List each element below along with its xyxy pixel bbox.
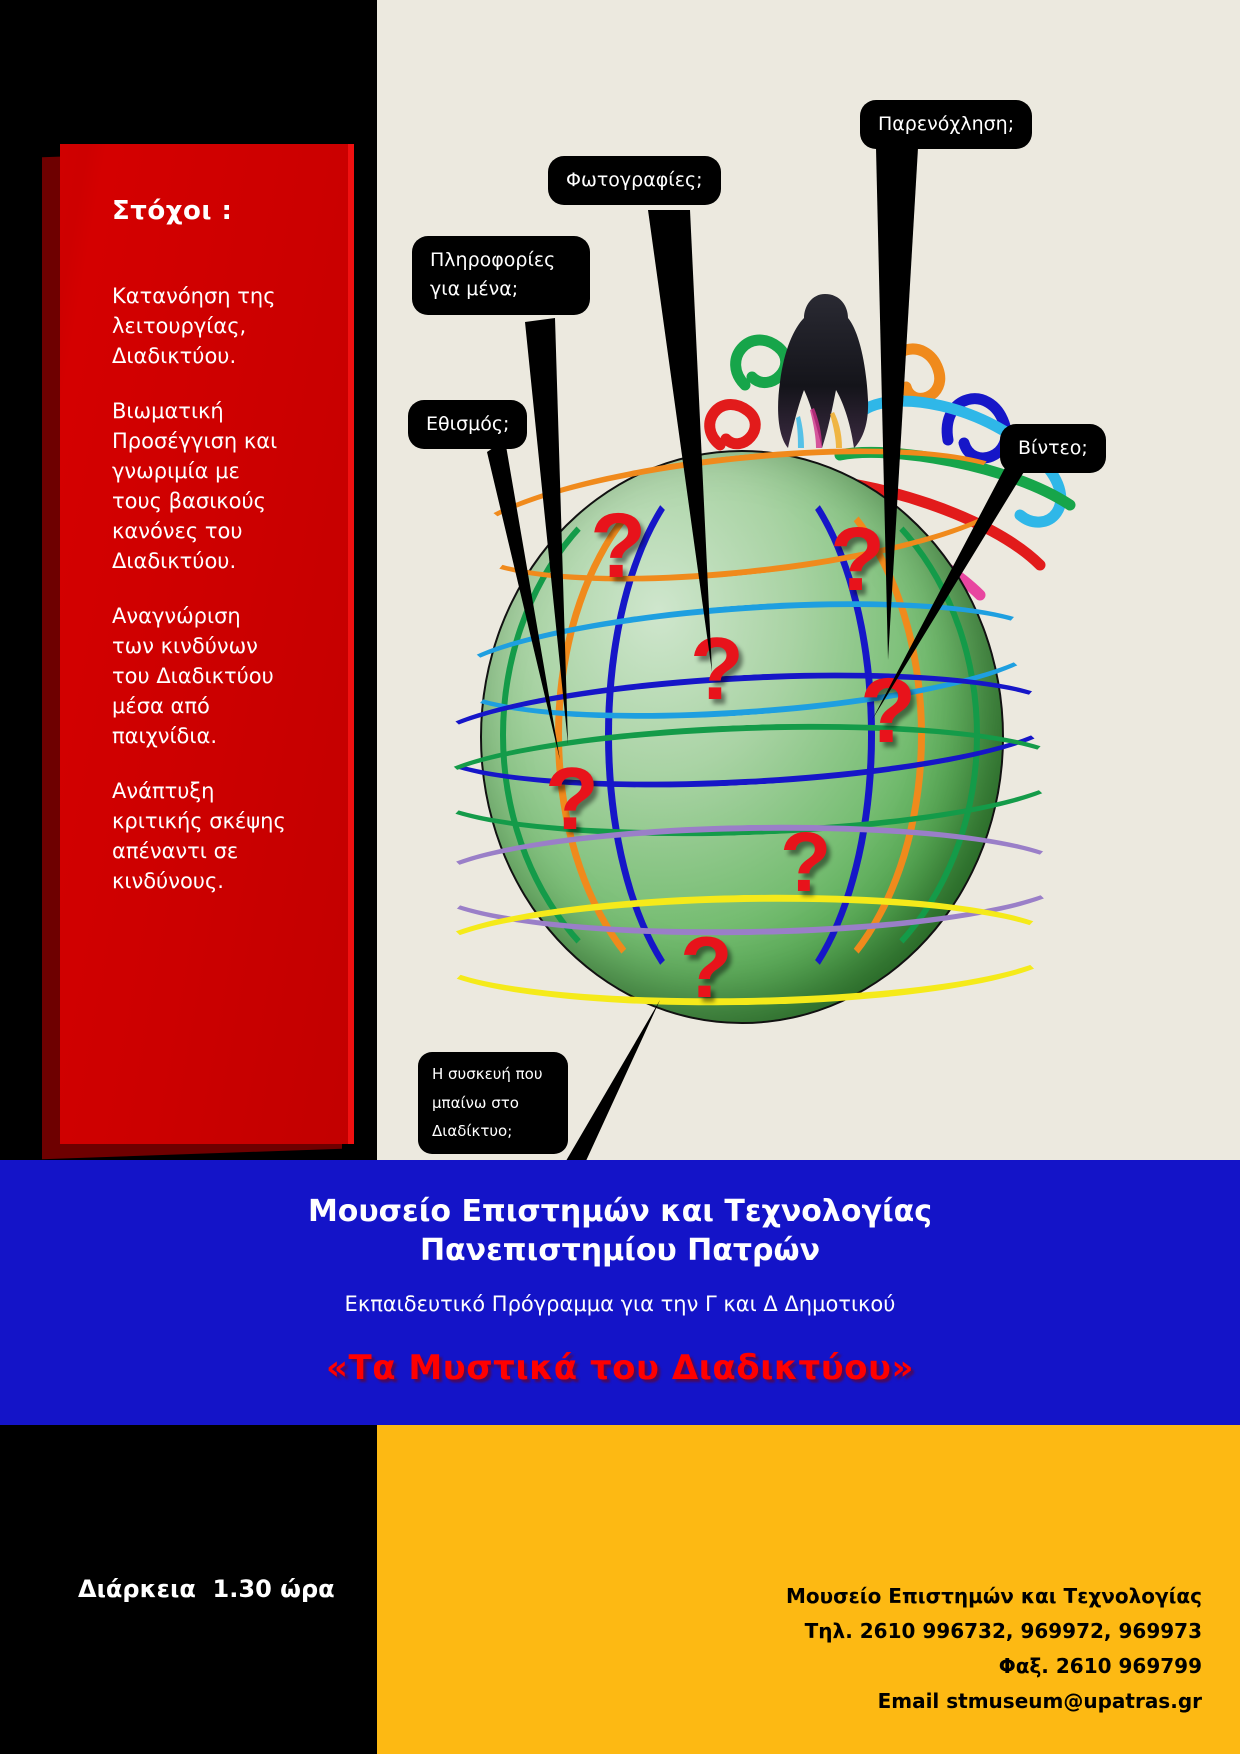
contact-organisation: Μουσείο Επιστημών και Τεχνολογίας [786, 1579, 1202, 1614]
contact-phone: Τηλ. 2610 996732, 969972, 969973 [786, 1614, 1202, 1649]
blue-footer-band: Μουσείο Επιστημών και Τεχνολογίας Πανεπι… [0, 1160, 1240, 1425]
bubble-addiction: Εθισμός; [408, 400, 527, 449]
contact-panel: Μουσείο Επιστημών και Τεχνολογίας Τηλ. 2… [377, 1425, 1240, 1754]
duration-text: Διάρκεια 1.30 ώρα [78, 1575, 335, 1603]
bubble-harassment: Παρενόχληση; [860, 100, 1032, 149]
poster: ? ? ? ? ? ? ? Πληροφορίες για μένα; Φωτο… [0, 0, 1240, 1754]
program-title: «Τα Μυστικά του Διαδικτύου» [0, 1316, 1240, 1388]
contact-fax: Φαξ. 2610 969799 [786, 1649, 1202, 1684]
bubble-information: Πληροφορίες για μένα; [412, 236, 590, 315]
duration-panel: Διάρκεια 1.30 ώρα [0, 1425, 377, 1754]
bubble-video: Βίντεο; [1000, 424, 1106, 473]
program-subtitle: Εκπαιδευτικό Πρόγραμμα για την Γ και Δ Δ… [0, 1270, 1240, 1316]
bubble-device: Η συσκευή που μπαίνω στο Διαδίκτυο; [418, 1052, 568, 1154]
museum-title: Μουσείο Επιστημών και Τεχνολογίας Πανεπι… [0, 1160, 1240, 1270]
contact-block: Μουσείο Επιστημών και Τεχνολογίας Τηλ. 2… [786, 1579, 1202, 1719]
contact-email[interactable]: Email stmuseum@upatras.gr [786, 1684, 1202, 1719]
poster-top-stage: ? ? ? ? ? ? ? Πληροφορίες για μένα; Φωτο… [0, 0, 1240, 1160]
bubble-photos: Φωτογραφίες; [548, 156, 721, 205]
